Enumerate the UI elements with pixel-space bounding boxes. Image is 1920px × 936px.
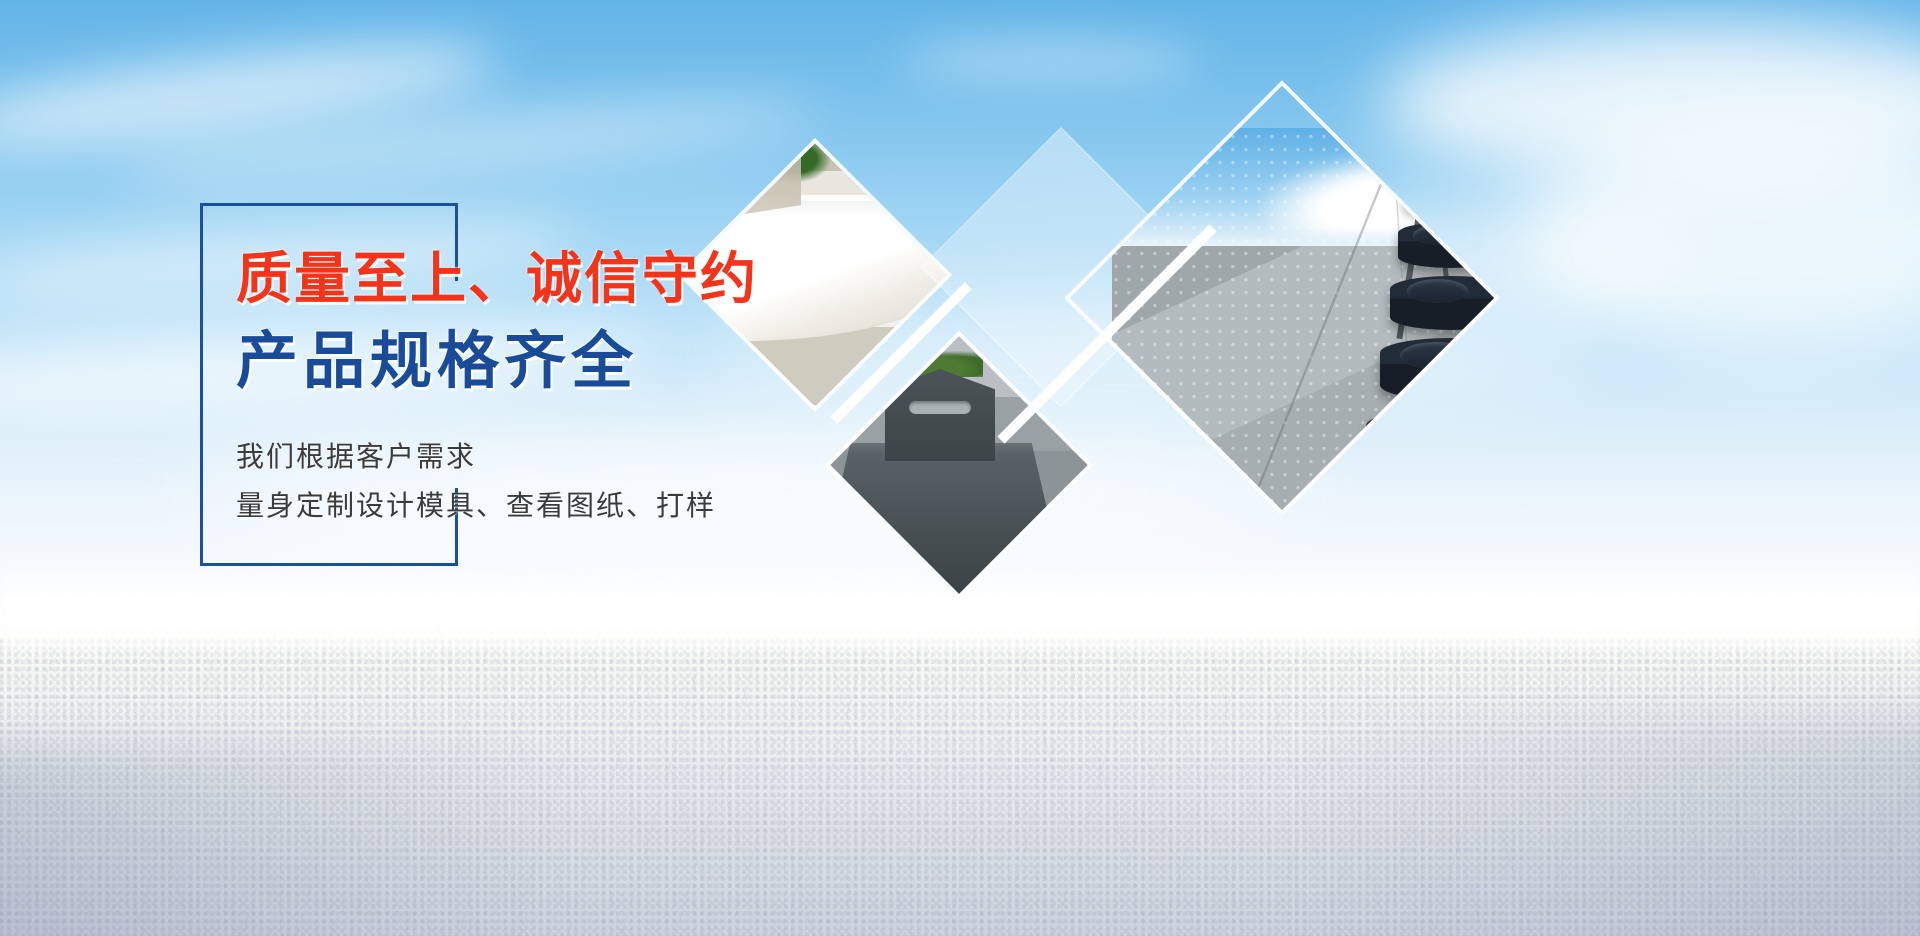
ground-shadow-right <box>1000 716 1920 936</box>
frame-edge-bottom <box>200 563 458 566</box>
frame-edge-left <box>200 203 203 566</box>
promo-banner: 质量至上、诚信守约 产品规格齐全 我们根据客户需求 量身定制设计模具、查看图纸、… <box>0 0 1920 936</box>
headline-secondary: 产品规格齐全 <box>236 328 1136 396</box>
ground-shadow-left <box>0 746 800 936</box>
cloud-wisp <box>900 40 1200 80</box>
subtitle-line-2: 量身定制设计模具、查看图纸、打样 <box>236 481 1136 530</box>
subtitle-line-1: 我们根据客户需求 <box>236 432 1136 481</box>
frame-edge-top <box>200 203 458 206</box>
banner-text-block: 质量至上、诚信守约 产品规格齐全 我们根据客户需求 量身定制设计模具、查看图纸、… <box>236 248 1136 530</box>
headline-primary: 质量至上、诚信守约 <box>236 248 1136 310</box>
